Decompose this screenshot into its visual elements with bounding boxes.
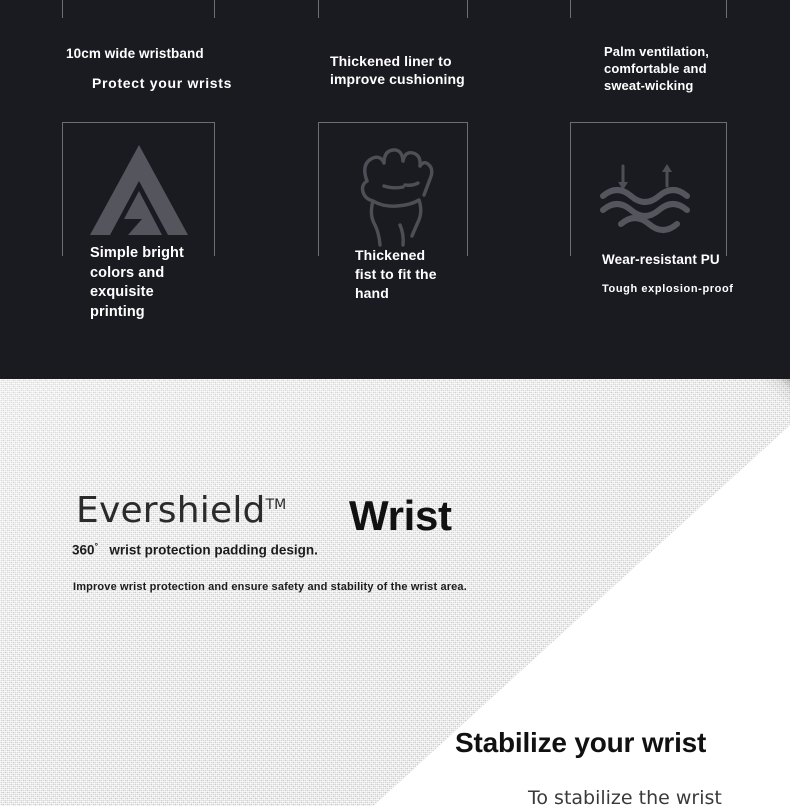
- feature-icon-frame: [570, 0, 727, 18]
- liner-cushion-icon: [319, 0, 467, 7]
- feature-icon-frame: [570, 122, 727, 256]
- dark-feature-section: 10cm wide wristband Protect your wrists …: [0, 0, 790, 379]
- feature-subcaption: Tough explosion-proof: [602, 282, 734, 297]
- feature-subcaption: Protect your wrists: [92, 74, 232, 92]
- palm-ventilation-icon: [571, 0, 726, 7]
- bottom-subheadline: To stabilize the wrist: [528, 787, 722, 806]
- bottom-headline: Stabilize your wrist: [455, 727, 706, 759]
- feature-icon-frame: [318, 122, 468, 256]
- brand-tagline: 360° wrist protection padding design.: [72, 541, 372, 559]
- feature-icon-frame: [62, 0, 215, 18]
- feature-caption: Palm ventilation, comfortable and sweat-…: [604, 43, 709, 94]
- degree-symbol: °: [95, 541, 99, 551]
- triangle-logo-icon: [63, 137, 214, 245]
- degree-value: 360: [72, 543, 95, 558]
- product-detail-page: 10cm wide wristband Protect your wrists …: [0, 0, 790, 806]
- fist-icon: [319, 139, 467, 249]
- feature-caption: Wear-resistant PU: [602, 251, 720, 269]
- breathable-waves-icon: [571, 145, 726, 241]
- feature-caption: Thickened liner to improve cushioning: [330, 52, 465, 89]
- feature-icon-frame: [62, 122, 215, 256]
- trademark-symbol: TM: [266, 497, 287, 513]
- brand-description: Improve wrist protection and ensure safe…: [73, 581, 467, 593]
- feature-grid: 10cm wide wristband Protect your wrists …: [0, 0, 790, 379]
- brand-name: EvershieldTM: [76, 490, 286, 531]
- brand-name-text: Evershield: [76, 490, 266, 531]
- tagline-text: wrist protection padding design.: [109, 543, 318, 558]
- feature-caption: 10cm wide wristband: [66, 45, 204, 63]
- feature-icon-frame: [318, 0, 468, 18]
- feature-caption: Thickened fist to fit the hand: [355, 246, 437, 303]
- brand-keyword: Wrist: [349, 492, 452, 540]
- wristband-icon: [63, 0, 214, 7]
- feature-caption: Simple bright colors and exquisite print…: [90, 244, 184, 322]
